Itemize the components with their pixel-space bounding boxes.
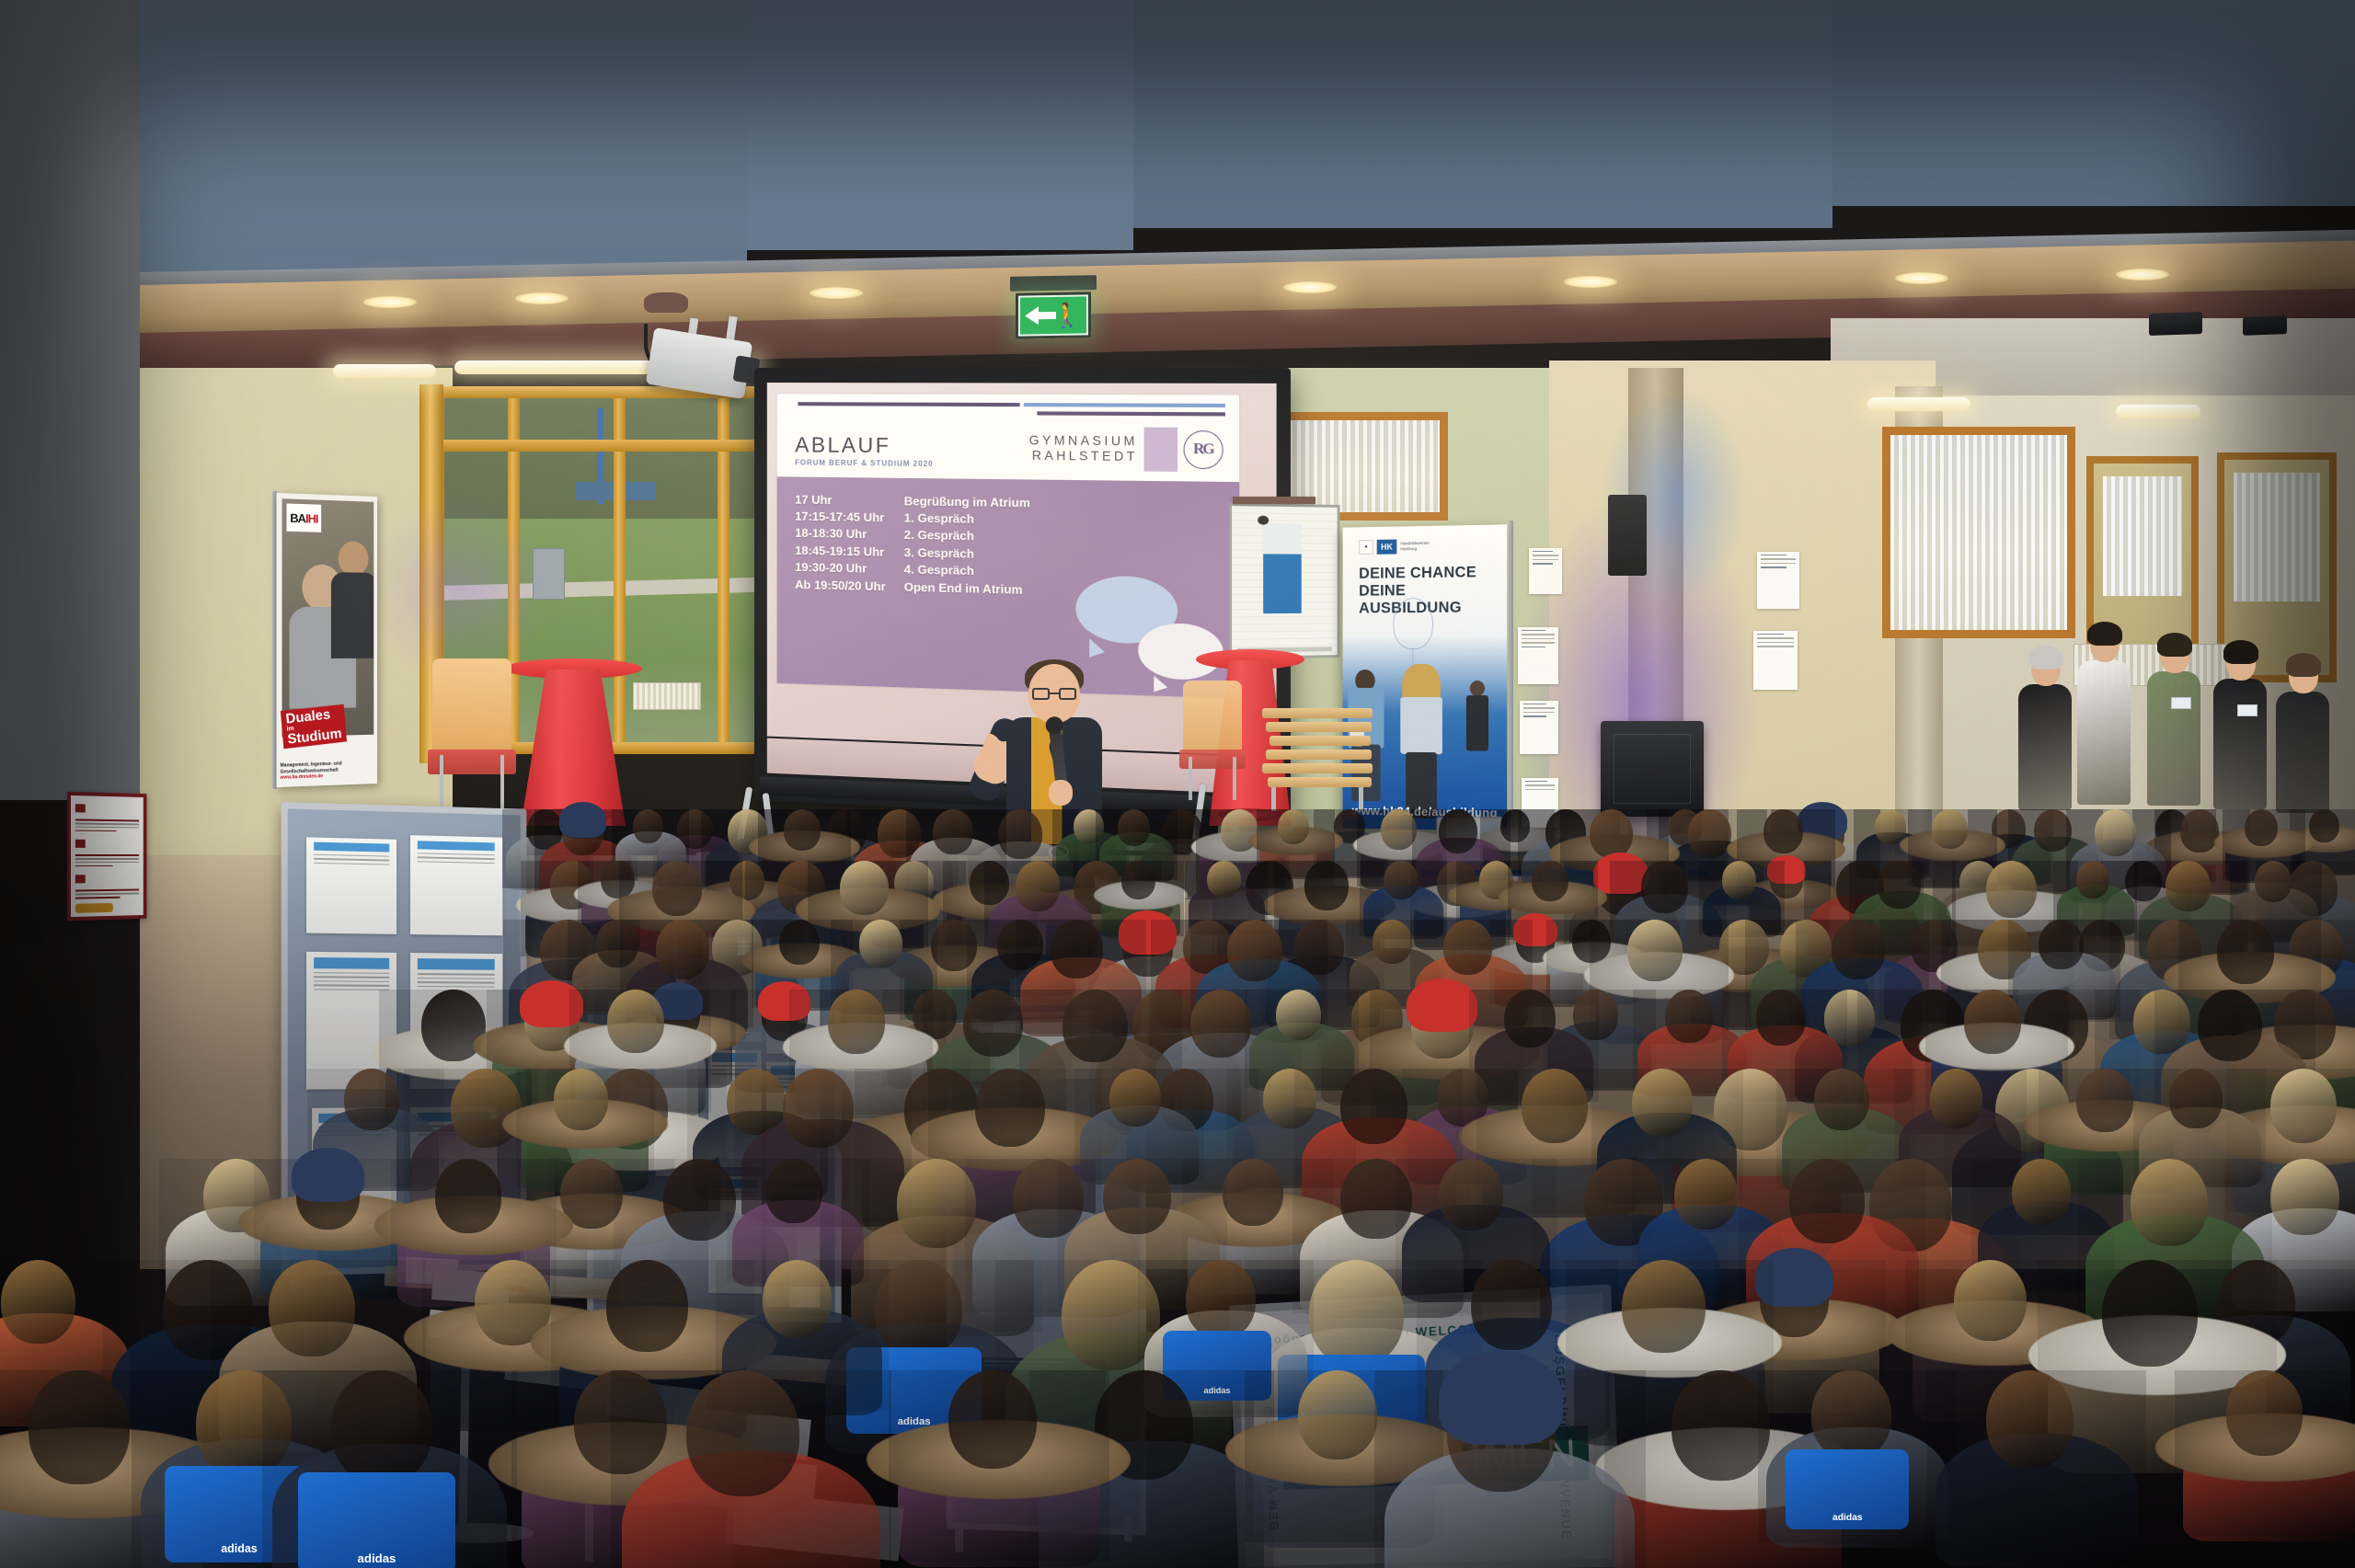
audience-head bbox=[2309, 809, 2338, 842]
audience-head bbox=[1875, 809, 1906, 844]
ba-ihi-logo-icon: BAIHI bbox=[287, 503, 322, 532]
audience-member bbox=[1374, 1370, 1646, 1568]
exit-sign-bracket bbox=[1010, 275, 1097, 292]
audience-head bbox=[1811, 1370, 1890, 1459]
audience-head bbox=[2245, 809, 2278, 846]
audience-head bbox=[1118, 809, 1150, 846]
ceiling-dome-mount bbox=[644, 292, 688, 313]
radiator bbox=[633, 682, 701, 710]
audience-head bbox=[607, 990, 664, 1053]
glasses-icon bbox=[1032, 688, 1076, 700]
hk-headline-line-2: DEINE AUSBILDUNG bbox=[1359, 581, 1507, 618]
audience-head bbox=[686, 1370, 798, 1496]
audience-head bbox=[2076, 861, 2110, 898]
audience-head bbox=[1532, 861, 1568, 901]
audience-head bbox=[435, 1159, 501, 1233]
slide-header: ABLAUF FORUM BERUF & STUDIUM 2020 GYMNAS… bbox=[776, 416, 1239, 478]
audience-member bbox=[1926, 1370, 2146, 1562]
audience-head bbox=[1954, 1260, 2027, 1341]
banner-person-body bbox=[331, 572, 373, 658]
audience-head bbox=[344, 1069, 399, 1130]
chair-back bbox=[1183, 681, 1242, 755]
name-badge bbox=[2237, 704, 2257, 716]
audience-head bbox=[1304, 861, 1349, 910]
audience-head bbox=[1207, 861, 1240, 898]
audience-head bbox=[1, 1260, 75, 1344]
logo-text-ba: BA bbox=[290, 510, 305, 525]
audience-head bbox=[269, 1260, 355, 1356]
audience-head bbox=[1622, 1260, 1705, 1353]
agenda-item: Begrüßung im Atrium bbox=[904, 493, 1030, 512]
audience-head bbox=[1878, 861, 1920, 909]
audience-head bbox=[1756, 990, 1807, 1046]
hk-person-head bbox=[1470, 681, 1485, 696]
audience-head bbox=[29, 1370, 131, 1484]
beanie-hat bbox=[559, 802, 606, 837]
audience-head bbox=[1103, 1159, 1171, 1234]
whiteboard-poster bbox=[1263, 523, 1302, 613]
audience-head bbox=[1340, 1069, 1407, 1144]
ceiling-spotlight bbox=[515, 292, 569, 304]
strip-light bbox=[1867, 397, 1970, 411]
running-person-icon: 🚶 bbox=[1051, 303, 1081, 327]
magnet-icon bbox=[1258, 516, 1269, 525]
interior-window bbox=[1882, 427, 2075, 638]
standing-adult bbox=[2143, 636, 2204, 806]
acoustic-ceiling-panel bbox=[747, 0, 1133, 250]
hk-logo-subtitle: Handelskammer Hamburg bbox=[1400, 541, 1430, 552]
acoustic-ceiling-panel bbox=[140, 0, 747, 276]
audience-head bbox=[1443, 920, 1492, 975]
standing-adult bbox=[2272, 657, 2333, 813]
ceiling-spotlight bbox=[810, 287, 863, 299]
ceiling-spotlight bbox=[1895, 272, 1948, 284]
agenda-list: 17 UhrBegrüßung im Atrium17:15-17:45 Uhr… bbox=[795, 491, 1030, 692]
audience-head bbox=[933, 809, 973, 854]
audience-head bbox=[2255, 861, 2292, 902]
agenda-time: 18:45-19:15 Uhr bbox=[795, 543, 904, 562]
adult-hair bbox=[2223, 640, 2258, 664]
ceiling-spotlight bbox=[1283, 281, 1337, 293]
audience-head bbox=[1109, 1069, 1161, 1127]
school-name-line-2: RAHLSTEDT bbox=[1029, 448, 1138, 464]
slide-subtitle: FORUM BERUF & STUDIUM 2020 bbox=[795, 460, 933, 469]
audience-head bbox=[554, 1069, 609, 1130]
audience-head bbox=[2095, 809, 2137, 856]
backpack: adidas bbox=[1786, 1449, 1909, 1528]
audience-head bbox=[1439, 809, 1478, 853]
audience-head bbox=[1298, 1370, 1377, 1459]
adult-coat bbox=[2147, 671, 2200, 806]
audience-head bbox=[859, 920, 902, 967]
audience-head bbox=[1688, 809, 1731, 858]
agenda-time: 17:15-17:45 Uhr bbox=[795, 509, 904, 528]
audience-head bbox=[2165, 861, 2211, 911]
wall-notice-sheet bbox=[1520, 701, 1558, 754]
audience-head bbox=[656, 920, 709, 979]
banner-person-head bbox=[339, 541, 369, 576]
audience-head bbox=[765, 1159, 822, 1223]
audience-head bbox=[897, 1159, 976, 1248]
audience-head bbox=[1986, 861, 2037, 918]
audience-head bbox=[2039, 920, 2084, 969]
beanie-hat bbox=[292, 1148, 363, 1202]
hk-headline: DEINE CHANCE DEINE AUSBILDUNG bbox=[1359, 564, 1507, 618]
banner-duales-studium: BAIHI Duales im Studium Management, Inge… bbox=[277, 493, 378, 787]
agenda-time: 18-18:30 Uhr bbox=[795, 525, 904, 544]
audience-head bbox=[1063, 990, 1128, 1062]
beanie-hat bbox=[1439, 1351, 1563, 1445]
agenda-time: Ab 19:50/20 Uhr bbox=[795, 577, 904, 596]
audience-head bbox=[1665, 990, 1713, 1043]
wall-notice-sheet bbox=[1518, 627, 1558, 684]
adult-hair bbox=[2087, 622, 2122, 646]
chair-back bbox=[432, 658, 511, 755]
school-monogram-icon: RG bbox=[1183, 429, 1223, 468]
exit-arrow-icon bbox=[1025, 306, 1039, 325]
logo-color-swatch bbox=[1143, 427, 1177, 471]
wall-trim bbox=[1233, 497, 1315, 504]
audience-crowd: adidasadidasadidasadidasadidasadidas bbox=[0, 773, 2355, 1568]
hk-person-torso bbox=[1400, 697, 1442, 754]
adult-hair bbox=[2028, 646, 2063, 670]
audience-head bbox=[2198, 990, 2262, 1061]
wall-notice-sheet bbox=[1757, 552, 1799, 609]
audience-head bbox=[1471, 1260, 1552, 1350]
ceiling-spotlight bbox=[363, 296, 417, 308]
audience-head bbox=[451, 1069, 522, 1148]
hk-seal-icon: ● bbox=[1359, 540, 1373, 555]
audience-head bbox=[1986, 1370, 2074, 1469]
standing-adult bbox=[2015, 649, 2075, 810]
audience-head bbox=[1671, 1370, 1770, 1481]
whiteboard bbox=[1229, 503, 1340, 659]
audience-head bbox=[606, 1260, 688, 1352]
audience-head bbox=[1227, 920, 1282, 981]
audience-head bbox=[1674, 1159, 1738, 1230]
audience-head bbox=[963, 990, 1023, 1057]
audience-member bbox=[2175, 1370, 2355, 1537]
strip-light bbox=[2116, 405, 2200, 418]
wall-speaker bbox=[1608, 495, 1647, 576]
audience-head bbox=[1190, 990, 1251, 1058]
backpack-brand-label: adidas bbox=[1786, 1513, 1909, 1523]
audience-head bbox=[828, 990, 886, 1054]
audience-head bbox=[1278, 809, 1309, 844]
concrete-wall-left bbox=[0, 0, 140, 800]
backpack: adidas bbox=[298, 1472, 455, 1568]
audience-head bbox=[1051, 920, 1103, 979]
hk-logo-abbrev: HK bbox=[1377, 540, 1397, 555]
standing-adult bbox=[2210, 644, 2270, 809]
audience-head bbox=[663, 1159, 737, 1241]
audience-head bbox=[2270, 1159, 2338, 1235]
audience-head bbox=[2012, 1159, 2071, 1225]
audience-head bbox=[2217, 920, 2274, 984]
adult-hair bbox=[2286, 653, 2321, 677]
audience-head bbox=[1832, 920, 1885, 979]
audience-head bbox=[975, 1069, 1045, 1147]
audience-member: adidas bbox=[262, 1370, 517, 1568]
audience-head bbox=[1590, 809, 1633, 858]
beanie-hat bbox=[1407, 979, 1477, 1032]
audience-head bbox=[2180, 809, 2219, 853]
acoustic-ceiling-panel bbox=[1133, 0, 1832, 228]
audience-head bbox=[1016, 861, 1061, 911]
outdoor-litter-bin bbox=[533, 548, 565, 600]
audience-head bbox=[783, 1069, 854, 1148]
agenda-item: 4. Gespräch bbox=[904, 562, 974, 580]
audience-head bbox=[2102, 1260, 2198, 1367]
agenda-time: 17 Uhr bbox=[795, 491, 904, 509]
audience-head bbox=[331, 1370, 433, 1484]
audience-head bbox=[779, 920, 820, 965]
audience-head bbox=[1814, 1069, 1869, 1130]
audience-head bbox=[1373, 920, 1412, 964]
audience-head bbox=[1309, 1260, 1404, 1367]
adult-coat bbox=[2077, 660, 2131, 805]
adult-hair bbox=[2157, 633, 2192, 657]
slide-title: ABLAUF bbox=[795, 433, 933, 457]
audience-head bbox=[2270, 1069, 2337, 1143]
wall-notice-sheet bbox=[1529, 548, 1562, 594]
audience-head bbox=[1384, 861, 1419, 899]
banner-photo: BAIHI bbox=[282, 498, 374, 737]
wall-speaker bbox=[2149, 312, 2202, 336]
audience-head bbox=[1763, 809, 1803, 853]
hk-person-suit bbox=[1466, 695, 1488, 751]
window-curtain bbox=[1890, 435, 2067, 630]
audience-head bbox=[1276, 990, 1321, 1040]
backpack-brand-label: adidas bbox=[298, 1551, 455, 1565]
adult-coat bbox=[2018, 684, 2072, 810]
adult-coat bbox=[2213, 679, 2267, 809]
agenda-item: 1. Gespräch bbox=[904, 509, 974, 528]
hk-logo: ● HK Handelskammer Hamburg bbox=[1359, 539, 1430, 555]
banner-headline: Duales im Studium bbox=[281, 704, 347, 750]
ceiling-spotlight bbox=[2116, 269, 2169, 280]
audience-head bbox=[633, 809, 663, 843]
outdoor-hedge bbox=[432, 386, 791, 526]
audience-head bbox=[652, 861, 702, 916]
audience-head bbox=[1223, 1159, 1283, 1226]
audience-head bbox=[2169, 1069, 2223, 1128]
audience-head bbox=[1627, 920, 1683, 981]
audience-head bbox=[1641, 861, 1688, 913]
audience-head bbox=[1121, 861, 1156, 899]
adult-coat bbox=[2276, 692, 2329, 813]
audience-head bbox=[1964, 990, 2021, 1054]
audience-head bbox=[763, 1260, 833, 1338]
lightbulb-icon bbox=[1393, 598, 1433, 649]
agenda-item: Open End im Atrium bbox=[904, 578, 1023, 599]
name-badge bbox=[2171, 697, 2191, 709]
acoustic-ceiling-panel bbox=[1832, 0, 2355, 206]
audience-head bbox=[1632, 1069, 1693, 1137]
audience-head bbox=[1932, 809, 1968, 849]
hk-headline-line-1: DEINE CHANCE bbox=[1359, 564, 1507, 583]
standing-adult bbox=[2074, 625, 2134, 805]
audience-member bbox=[611, 1370, 892, 1568]
wall-notice-sheet bbox=[1753, 631, 1798, 690]
presentation-slide: ABLAUF FORUM BERUF & STUDIUM 2020 GYMNAS… bbox=[776, 394, 1239, 699]
audience-head bbox=[1930, 1069, 1983, 1128]
audience-head bbox=[1439, 1159, 1503, 1230]
audience-head bbox=[784, 809, 821, 851]
agenda-item: 2. Gespräch bbox=[904, 527, 974, 545]
audience-head bbox=[1722, 861, 1756, 899]
school-name-line-1: GYMNASIUM bbox=[1029, 433, 1138, 449]
audience-head bbox=[1789, 1159, 1865, 1243]
audience-head bbox=[948, 1370, 1037, 1469]
photo-scene: 🚶 ABLAUF FORUM bbox=[0, 0, 2355, 1568]
ceiling-spotlight bbox=[1564, 276, 1617, 288]
school-logo: GYMNASIUM RAHLSTEDT RG bbox=[1029, 426, 1223, 472]
audience-head bbox=[1522, 1069, 1589, 1143]
audience-head bbox=[840, 861, 888, 915]
audience-member bbox=[889, 1370, 1109, 1562]
audience-head bbox=[2076, 1069, 2132, 1132]
strip-light bbox=[333, 364, 436, 378]
audience-head bbox=[2226, 1370, 2303, 1456]
audience-head bbox=[1504, 990, 1556, 1047]
audience-head bbox=[2131, 1159, 2209, 1246]
emergency-exit-sign: 🚶 bbox=[1016, 292, 1091, 338]
logo-text-ihi: IHI bbox=[305, 511, 317, 525]
agenda-item: 3. Gespräch bbox=[904, 544, 974, 563]
wall-speaker bbox=[2243, 315, 2287, 336]
audience-head bbox=[1186, 1260, 1257, 1339]
